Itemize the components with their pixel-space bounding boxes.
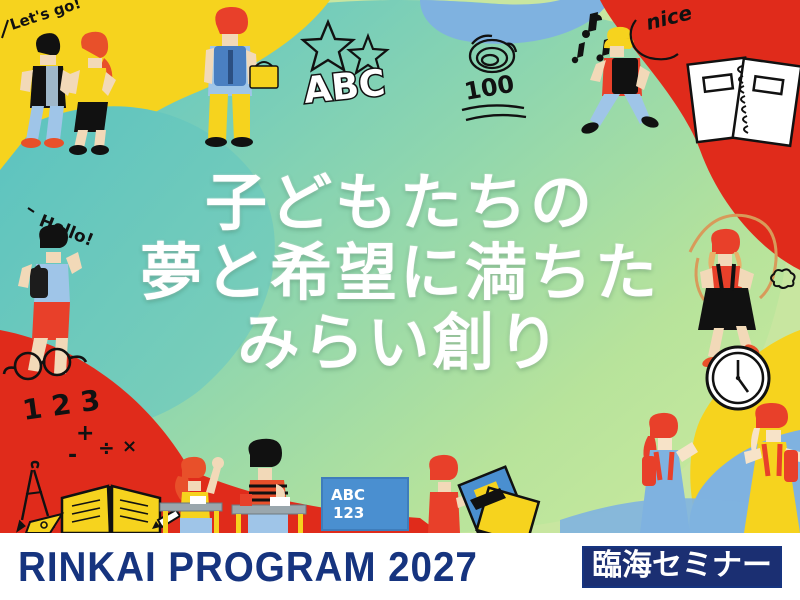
poster-root: Let's go! xyxy=(0,0,800,600)
illustration-canvas: Let's go! xyxy=(0,0,800,533)
blackboard-line-1: ABC xyxy=(331,486,365,504)
doodle-times-text: × xyxy=(122,436,137,457)
illustration-clock xyxy=(707,347,769,409)
illustration-notebooks xyxy=(688,58,800,146)
doodle-plus-text: + xyxy=(76,421,94,446)
brand-logo-badge: 臨海セミナー xyxy=(582,546,782,588)
bottom-banner: RINKAI PROGRAM 2027 臨海セミナー xyxy=(0,533,800,600)
doodle-minus-text: - xyxy=(68,443,77,468)
doodle-divide-text: ÷ xyxy=(98,436,115,460)
blackboard-line-2: 123 xyxy=(333,504,364,522)
program-title: RINKAI PROGRAM 2027 xyxy=(18,543,478,591)
doodle-abc-text: ABC xyxy=(302,63,388,112)
doodle-abc: ABC xyxy=(302,63,388,112)
illustration-svg: Let's go! xyxy=(0,0,800,533)
illustration-open-book xyxy=(62,486,160,533)
illustration-blackboard: ABC 123 xyxy=(322,478,408,530)
